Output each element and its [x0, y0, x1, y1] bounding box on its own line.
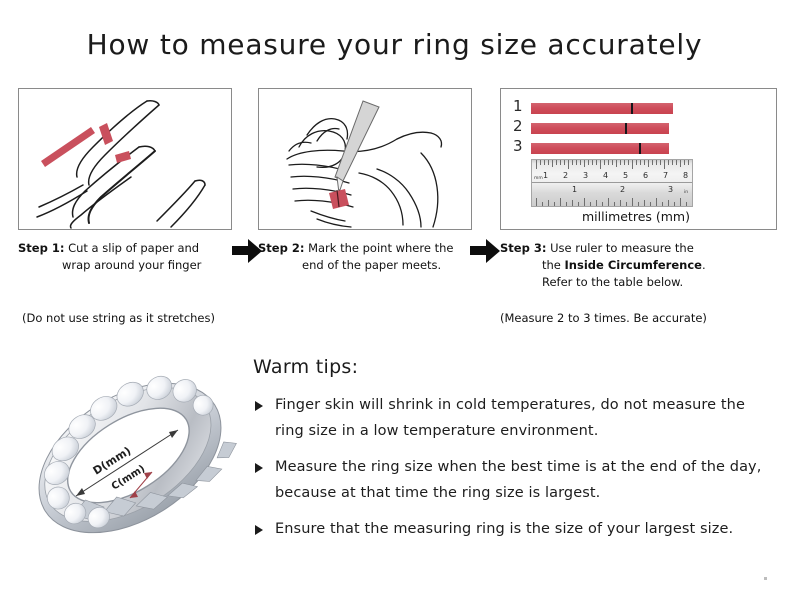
ruler-unit-caption: millimetres (mm) — [556, 209, 716, 224]
paper-strip-loose — [41, 127, 95, 167]
triangle-bullet-icon — [255, 463, 263, 473]
hand-with-paper-strip-icon — [19, 89, 231, 229]
step-3-caption: Step 3: Use ruler to measure the the Ins… — [500, 240, 775, 291]
warm-tips-block: Warm tips: Finger skin will shrink in co… — [253, 356, 773, 552]
ruler-bottom-number-2: 2 — [620, 186, 625, 194]
ruler-top-number-5: 5 — [623, 172, 628, 180]
step-3-label: Step 3: — [500, 241, 546, 255]
step-2-illustration-panel — [258, 88, 472, 230]
strip-3-mark — [639, 143, 641, 154]
strip-3-bar — [531, 143, 669, 154]
diamond-eternity-ring-icon: D(mm) C(mm) — [18, 358, 243, 558]
step-1-label: Step 1: — [18, 241, 64, 255]
step-3-note: (Measure 2 to 3 times. Be accurate) — [500, 311, 707, 325]
strip-1-mark — [631, 103, 633, 114]
step-1-column: Step 1: Cut a slip of paper and wrap aro… — [18, 88, 232, 230]
lower-section: D(mm) C(mm) Warm tips: Finger skin will … — [0, 348, 789, 598]
strip-1-number: 1 — [513, 99, 523, 114]
step-2-line-2: end of the paper meets. — [258, 257, 472, 274]
ring-diagram: D(mm) C(mm) — [18, 358, 243, 558]
step-2-label: Step 2: — [258, 241, 304, 255]
ruler-top-number-3: 3 — [583, 172, 588, 180]
tip-text: Measure the ring size when the best time… — [275, 459, 761, 501]
step-3-line-3: Refer to the table below. — [500, 274, 775, 291]
strip-2-bar — [531, 123, 669, 134]
tip-text: Ensure that the measuring ring is the si… — [275, 521, 733, 537]
strip-1-bar — [531, 103, 673, 114]
page-title: How to measure your ring size accurately — [0, 28, 789, 61]
step-3-emphasis: Inside Circumference — [565, 258, 702, 272]
ruler-top-number-6: 6 — [643, 172, 648, 180]
ruler-bottom-number-1: 1 — [572, 186, 577, 194]
warm-tips-heading: Warm tips: — [253, 356, 773, 378]
step-2-column: Step 2: Mark the point where the end of … — [258, 88, 472, 230]
ruler-bottom-number-3: 3 — [668, 186, 673, 194]
strip-2-number: 2 — [513, 119, 523, 134]
ruler-top-number-8: 8 — [683, 172, 688, 180]
step-3-illustration-panel: 1 2 3 — [500, 88, 777, 230]
ruler-top-number-2: 2 — [563, 172, 568, 180]
paper-strip-marked — [329, 189, 349, 209]
tip-item: Finger skin will shrink in cold temperat… — [253, 392, 773, 444]
step-1-line-2: wrap around your finger — [18, 257, 232, 274]
ruler: mm 1 2 3 4 5 6 7 8 1 2 3 in — [531, 159, 693, 207]
step-3-line-2-suffix: . — [702, 258, 706, 272]
ruler-top-number-4: 4 — [603, 172, 608, 180]
hand-marking-paper-strip-icon — [259, 89, 471, 229]
strip-2-mark — [625, 123, 627, 134]
steps-row: Step 1: Cut a slip of paper and wrap aro… — [0, 88, 789, 338]
ruler-top-number-1: 1 — [543, 172, 548, 180]
step-3-line-1: Use ruler to measure the — [550, 241, 694, 255]
tip-item: Ensure that the measuring ring is the si… — [253, 516, 773, 542]
step-2-line-1: Mark the point where the — [308, 241, 453, 255]
triangle-bullet-icon — [255, 401, 263, 411]
step-1-note: (Do not use string as it stretches) — [22, 311, 215, 325]
strip-3-number: 3 — [513, 139, 523, 154]
step-1-line-1: Cut a slip of paper and — [68, 241, 199, 255]
triangle-bullet-icon — [255, 525, 263, 535]
step-2-caption: Step 2: Mark the point where the end of … — [258, 240, 472, 274]
tip-item: Measure the ring size when the best time… — [253, 454, 773, 506]
corner-artifact — [764, 577, 767, 580]
ruler-top-number-7: 7 — [663, 172, 668, 180]
step-1-illustration-panel — [18, 88, 232, 230]
tip-text: Finger skin will shrink in cold temperat… — [275, 397, 745, 439]
step-1-caption: Step 1: Cut a slip of paper and wrap aro… — [18, 240, 232, 274]
arrow-step2-to-step3 — [470, 238, 502, 264]
ruler-bottom-unit: in — [684, 190, 688, 195]
step-3-column: 1 2 3 — [500, 88, 777, 230]
ruler-top-unit: mm — [534, 176, 543, 181]
step-3-line-2-prefix: the — [542, 258, 565, 272]
